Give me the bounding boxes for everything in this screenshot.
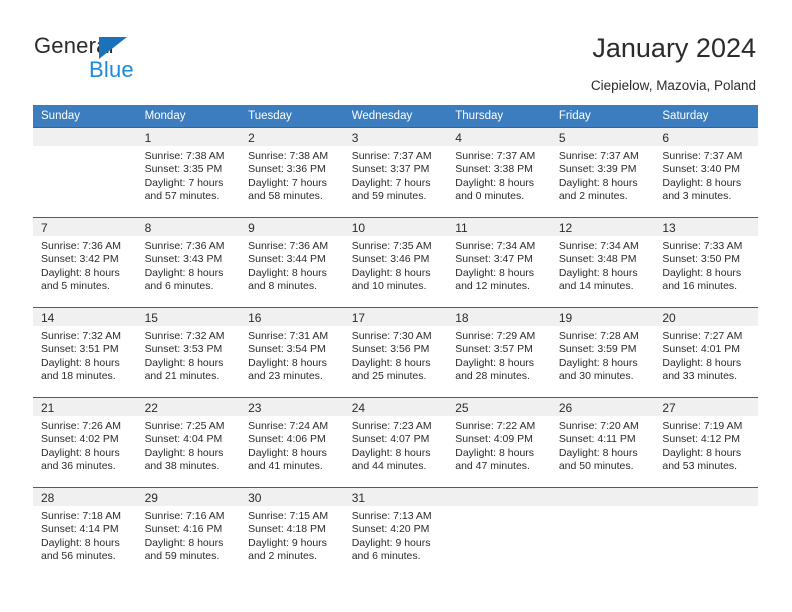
- calendar-day-cell[interactable]: 5Sunrise: 7:37 AMSunset: 3:39 PMDaylight…: [551, 128, 655, 218]
- day-daylight-line1: Daylight: 8 hours: [455, 177, 545, 190]
- day-sun-info: Sunrise: 7:30 AMSunset: 3:56 PMDaylight:…: [344, 326, 448, 384]
- calendar-day-cell-empty: [33, 128, 137, 218]
- day-sunrise: Sunrise: 7:18 AM: [41, 510, 131, 523]
- day-number: 4: [447, 128, 551, 146]
- day-sunrise: Sunrise: 7:19 AM: [662, 420, 752, 433]
- day-daylight-line2: and 23 minutes.: [248, 370, 338, 383]
- day-daylight-line2: and 18 minutes.: [41, 370, 131, 383]
- day-sun-info: Sunrise: 7:34 AMSunset: 3:47 PMDaylight:…: [447, 236, 551, 294]
- day-daylight-line1: Daylight: 8 hours: [455, 447, 545, 460]
- day-daylight-line1: Daylight: 8 hours: [455, 267, 545, 280]
- day-sun-info: Sunrise: 7:36 AMSunset: 3:42 PMDaylight:…: [33, 236, 137, 294]
- day-number: 29: [137, 488, 241, 506]
- day-sun-info: Sunrise: 7:31 AMSunset: 3:54 PMDaylight:…: [240, 326, 344, 384]
- day-number: 8: [137, 218, 241, 236]
- day-number: 7: [33, 218, 137, 236]
- day-daylight-line2: and 0 minutes.: [455, 190, 545, 203]
- day-sun-info: Sunrise: 7:35 AMSunset: 3:46 PMDaylight:…: [344, 236, 448, 294]
- day-number: 18: [447, 308, 551, 326]
- day-daylight-line1: Daylight: 8 hours: [248, 357, 338, 370]
- day-daylight-line2: and 21 minutes.: [145, 370, 235, 383]
- day-sunset: Sunset: 3:44 PM: [248, 253, 338, 266]
- calendar-grid: SundayMondayTuesdayWednesdayThursdayFrid…: [33, 105, 758, 577]
- weekday-header-thursday: Thursday: [447, 105, 551, 128]
- weekday-header-sunday: Sunday: [33, 105, 137, 128]
- day-sunrise: Sunrise: 7:37 AM: [559, 150, 649, 163]
- day-sun-info: Sunrise: 7:33 AMSunset: 3:50 PMDaylight:…: [654, 236, 758, 294]
- day-sunrise: Sunrise: 7:25 AM: [145, 420, 235, 433]
- day-sunset: Sunset: 3:48 PM: [559, 253, 649, 266]
- day-number: [33, 128, 137, 146]
- day-sunset: Sunset: 4:01 PM: [662, 343, 752, 356]
- day-sun-info: Sunrise: 7:19 AMSunset: 4:12 PMDaylight:…: [654, 416, 758, 474]
- logo-triangle-icon: [99, 37, 127, 59]
- day-daylight-line1: Daylight: 8 hours: [559, 447, 649, 460]
- day-sun-info: Sunrise: 7:37 AMSunset: 3:38 PMDaylight:…: [447, 146, 551, 204]
- day-sunset: Sunset: 4:12 PM: [662, 433, 752, 446]
- calendar-day-cell[interactable]: 9Sunrise: 7:36 AMSunset: 3:44 PMDaylight…: [240, 218, 344, 308]
- day-sun-info: Sunrise: 7:28 AMSunset: 3:59 PMDaylight:…: [551, 326, 655, 384]
- day-daylight-line2: and 58 minutes.: [248, 190, 338, 203]
- day-number: 16: [240, 308, 344, 326]
- day-sun-info: Sunrise: 7:22 AMSunset: 4:09 PMDaylight:…: [447, 416, 551, 474]
- day-sunset: Sunset: 3:46 PM: [352, 253, 442, 266]
- calendar-week-row: 28Sunrise: 7:18 AMSunset: 4:14 PMDayligh…: [33, 488, 758, 578]
- day-sunset: Sunset: 3:36 PM: [248, 163, 338, 176]
- day-daylight-line2: and 12 minutes.: [455, 280, 545, 293]
- day-daylight-line2: and 57 minutes.: [145, 190, 235, 203]
- day-sunrise: Sunrise: 7:36 AM: [41, 240, 131, 253]
- day-sun-info: Sunrise: 7:34 AMSunset: 3:48 PMDaylight:…: [551, 236, 655, 294]
- day-sunrise: Sunrise: 7:20 AM: [559, 420, 649, 433]
- day-sun-info: Sunrise: 7:36 AMSunset: 3:43 PMDaylight:…: [137, 236, 241, 294]
- day-sunset: Sunset: 3:35 PM: [145, 163, 235, 176]
- day-daylight-line2: and 28 minutes.: [455, 370, 545, 383]
- day-sunset: Sunset: 3:37 PM: [352, 163, 442, 176]
- day-daylight-line1: Daylight: 8 hours: [248, 267, 338, 280]
- calendar-table: SundayMondayTuesdayWednesdayThursdayFrid…: [33, 105, 758, 577]
- day-sunrise: Sunrise: 7:38 AM: [248, 150, 338, 163]
- day-sun-info: Sunrise: 7:15 AMSunset: 4:18 PMDaylight:…: [240, 506, 344, 564]
- day-sun-info: Sunrise: 7:23 AMSunset: 4:07 PMDaylight:…: [344, 416, 448, 474]
- day-sunrise: Sunrise: 7:34 AM: [455, 240, 545, 253]
- day-number: 5: [551, 128, 655, 146]
- day-number: 11: [447, 218, 551, 236]
- day-sun-info: Sunrise: 7:24 AMSunset: 4:06 PMDaylight:…: [240, 416, 344, 474]
- day-sunrise: Sunrise: 7:37 AM: [662, 150, 752, 163]
- day-number: 3: [344, 128, 448, 146]
- day-daylight-line1: Daylight: 7 hours: [352, 177, 442, 190]
- day-daylight-line1: Daylight: 7 hours: [248, 177, 338, 190]
- day-daylight-line1: Daylight: 8 hours: [352, 447, 442, 460]
- calendar-day-cell[interactable]: 8Sunrise: 7:36 AMSunset: 3:43 PMDaylight…: [137, 218, 241, 308]
- day-number: 26: [551, 398, 655, 416]
- day-sunset: Sunset: 3:57 PM: [455, 343, 545, 356]
- day-sunset: Sunset: 3:39 PM: [559, 163, 649, 176]
- calendar-day-cell[interactable]: 3Sunrise: 7:37 AMSunset: 3:37 PMDaylight…: [344, 128, 448, 218]
- general-blue-logo: General Blue: [34, 34, 214, 90]
- day-daylight-line1: Daylight: 8 hours: [559, 267, 649, 280]
- day-daylight-line2: and 33 minutes.: [662, 370, 752, 383]
- day-daylight-line2: and 44 minutes.: [352, 460, 442, 473]
- day-daylight-line2: and 38 minutes.: [145, 460, 235, 473]
- calendar-day-cell[interactable]: 23Sunrise: 7:24 AMSunset: 4:06 PMDayligh…: [240, 398, 344, 488]
- day-sunrise: Sunrise: 7:35 AM: [352, 240, 442, 253]
- day-daylight-line2: and 30 minutes.: [559, 370, 649, 383]
- day-daylight-line1: Daylight: 8 hours: [559, 177, 649, 190]
- day-sunset: Sunset: 3:53 PM: [145, 343, 235, 356]
- day-daylight-line2: and 53 minutes.: [662, 460, 752, 473]
- day-number: 14: [33, 308, 137, 326]
- calendar-day-cell[interactable]: 14Sunrise: 7:32 AMSunset: 3:51 PMDayligh…: [33, 308, 137, 398]
- day-sunrise: Sunrise: 7:13 AM: [352, 510, 442, 523]
- day-sunset: Sunset: 3:56 PM: [352, 343, 442, 356]
- calendar-day-cell[interactable]: 15Sunrise: 7:32 AMSunset: 3:53 PMDayligh…: [137, 308, 241, 398]
- weekday-header-wednesday: Wednesday: [344, 105, 448, 128]
- day-number: 17: [344, 308, 448, 326]
- page-title: January 2024: [592, 32, 756, 64]
- day-daylight-line2: and 8 minutes.: [248, 280, 338, 293]
- day-sunrise: Sunrise: 7:26 AM: [41, 420, 131, 433]
- day-sunrise: Sunrise: 7:33 AM: [662, 240, 752, 253]
- day-sunset: Sunset: 4:04 PM: [145, 433, 235, 446]
- day-number: 20: [654, 308, 758, 326]
- day-daylight-line1: Daylight: 8 hours: [41, 447, 131, 460]
- calendar-week-row: 1Sunrise: 7:38 AMSunset: 3:35 PMDaylight…: [33, 128, 758, 218]
- day-daylight-line1: Daylight: 8 hours: [662, 447, 752, 460]
- calendar-day-cell[interactable]: 7Sunrise: 7:36 AMSunset: 3:42 PMDaylight…: [33, 218, 137, 308]
- day-daylight-line2: and 25 minutes.: [352, 370, 442, 383]
- day-daylight-line2: and 2 minutes.: [559, 190, 649, 203]
- calendar-day-cell[interactable]: 31Sunrise: 7:13 AMSunset: 4:20 PMDayligh…: [344, 488, 448, 578]
- day-number: 24: [344, 398, 448, 416]
- day-sunset: Sunset: 3:54 PM: [248, 343, 338, 356]
- day-number: 31: [344, 488, 448, 506]
- day-daylight-line1: Daylight: 8 hours: [145, 357, 235, 370]
- day-daylight-line1: Daylight: 8 hours: [41, 537, 131, 550]
- day-daylight-line2: and 59 minutes.: [352, 190, 442, 203]
- day-sunset: Sunset: 3:59 PM: [559, 343, 649, 356]
- day-sun-info: Sunrise: 7:36 AMSunset: 3:44 PMDaylight:…: [240, 236, 344, 294]
- day-daylight-line2: and 2 minutes.: [248, 550, 338, 563]
- day-sunset: Sunset: 4:07 PM: [352, 433, 442, 446]
- day-number: 30: [240, 488, 344, 506]
- calendar-day-cell[interactable]: 21Sunrise: 7:26 AMSunset: 4:02 PMDayligh…: [33, 398, 137, 488]
- day-sunset: Sunset: 4:20 PM: [352, 523, 442, 536]
- day-daylight-line1: Daylight: 8 hours: [41, 357, 131, 370]
- day-sunrise: Sunrise: 7:24 AM: [248, 420, 338, 433]
- calendar-day-cell[interactable]: 6Sunrise: 7:37 AMSunset: 3:40 PMDaylight…: [654, 128, 758, 218]
- calendar-day-cell[interactable]: 4Sunrise: 7:37 AMSunset: 3:38 PMDaylight…: [447, 128, 551, 218]
- day-sunrise: Sunrise: 7:22 AM: [455, 420, 545, 433]
- day-number: 12: [551, 218, 655, 236]
- calendar-day-cell[interactable]: 26Sunrise: 7:20 AMSunset: 4:11 PMDayligh…: [551, 398, 655, 488]
- calendar-day-cell[interactable]: 13Sunrise: 7:33 AMSunset: 3:50 PMDayligh…: [654, 218, 758, 308]
- day-sunset: Sunset: 3:50 PM: [662, 253, 752, 266]
- day-number: 27: [654, 398, 758, 416]
- day-sunrise: Sunrise: 7:36 AM: [248, 240, 338, 253]
- day-number: 15: [137, 308, 241, 326]
- calendar-day-cell[interactable]: 22Sunrise: 7:25 AMSunset: 4:04 PMDayligh…: [137, 398, 241, 488]
- day-sunrise: Sunrise: 7:34 AM: [559, 240, 649, 253]
- day-sunset: Sunset: 3:51 PM: [41, 343, 131, 356]
- day-sunrise: Sunrise: 7:29 AM: [455, 330, 545, 343]
- day-daylight-line2: and 10 minutes.: [352, 280, 442, 293]
- day-daylight-line1: Daylight: 7 hours: [145, 177, 235, 190]
- day-daylight-line2: and 14 minutes.: [559, 280, 649, 293]
- calendar-day-cell[interactable]: 10Sunrise: 7:35 AMSunset: 3:46 PMDayligh…: [344, 218, 448, 308]
- weekday-header-friday: Friday: [551, 105, 655, 128]
- day-daylight-line2: and 47 minutes.: [455, 460, 545, 473]
- day-sunset: Sunset: 4:14 PM: [41, 523, 131, 536]
- day-sunset: Sunset: 4:18 PM: [248, 523, 338, 536]
- calendar-day-cell[interactable]: 19Sunrise: 7:28 AMSunset: 3:59 PMDayligh…: [551, 308, 655, 398]
- day-number: 21: [33, 398, 137, 416]
- day-sunrise: Sunrise: 7:16 AM: [145, 510, 235, 523]
- day-daylight-line2: and 6 minutes.: [352, 550, 442, 563]
- day-number: 22: [137, 398, 241, 416]
- calendar-day-cell[interactable]: 16Sunrise: 7:31 AMSunset: 3:54 PMDayligh…: [240, 308, 344, 398]
- day-daylight-line1: Daylight: 8 hours: [662, 267, 752, 280]
- day-number: 6: [654, 128, 758, 146]
- weekday-header-monday: Monday: [137, 105, 241, 128]
- day-daylight-line2: and 36 minutes.: [41, 460, 131, 473]
- calendar-week-row: 7Sunrise: 7:36 AMSunset: 3:42 PMDaylight…: [33, 218, 758, 308]
- calendar-day-cell[interactable]: 28Sunrise: 7:18 AMSunset: 4:14 PMDayligh…: [33, 488, 137, 578]
- logo-text-blue: Blue: [89, 58, 134, 82]
- weekday-header-tuesday: Tuesday: [240, 105, 344, 128]
- calendar-day-cell[interactable]: 11Sunrise: 7:34 AMSunset: 3:47 PMDayligh…: [447, 218, 551, 308]
- day-sunrise: Sunrise: 7:27 AM: [662, 330, 752, 343]
- calendar-day-cell-empty: [447, 488, 551, 578]
- day-sunrise: Sunrise: 7:38 AM: [145, 150, 235, 163]
- day-daylight-line1: Daylight: 8 hours: [662, 177, 752, 190]
- day-sun-info: Sunrise: 7:16 AMSunset: 4:16 PMDaylight:…: [137, 506, 241, 564]
- day-number: 13: [654, 218, 758, 236]
- day-sunset: Sunset: 3:47 PM: [455, 253, 545, 266]
- day-number: 28: [33, 488, 137, 506]
- day-sunrise: Sunrise: 7:37 AM: [455, 150, 545, 163]
- calendar-day-cell[interactable]: 24Sunrise: 7:23 AMSunset: 4:07 PMDayligh…: [344, 398, 448, 488]
- day-daylight-line2: and 59 minutes.: [145, 550, 235, 563]
- day-sun-info: Sunrise: 7:18 AMSunset: 4:14 PMDaylight:…: [33, 506, 137, 564]
- calendar-day-cell-empty: [551, 488, 655, 578]
- day-number: 23: [240, 398, 344, 416]
- calendar-body: 1Sunrise: 7:38 AMSunset: 3:35 PMDaylight…: [33, 128, 758, 578]
- day-sunrise: Sunrise: 7:37 AM: [352, 150, 442, 163]
- day-sunset: Sunset: 3:43 PM: [145, 253, 235, 266]
- day-sunset: Sunset: 3:38 PM: [455, 163, 545, 176]
- day-daylight-line2: and 3 minutes.: [662, 190, 752, 203]
- day-sunset: Sunset: 4:16 PM: [145, 523, 235, 536]
- day-daylight-line1: Daylight: 8 hours: [352, 357, 442, 370]
- calendar-week-row: 14Sunrise: 7:32 AMSunset: 3:51 PMDayligh…: [33, 308, 758, 398]
- calendar-day-cell[interactable]: 29Sunrise: 7:16 AMSunset: 4:16 PMDayligh…: [137, 488, 241, 578]
- day-sunrise: Sunrise: 7:28 AM: [559, 330, 649, 343]
- day-daylight-line2: and 6 minutes.: [145, 280, 235, 293]
- day-daylight-line1: Daylight: 9 hours: [352, 537, 442, 550]
- calendar-week-row: 21Sunrise: 7:26 AMSunset: 4:02 PMDayligh…: [33, 398, 758, 488]
- calendar-header-row: SundayMondayTuesdayWednesdayThursdayFrid…: [33, 105, 758, 128]
- day-sun-info: Sunrise: 7:32 AMSunset: 3:51 PMDaylight:…: [33, 326, 137, 384]
- day-daylight-line1: Daylight: 8 hours: [455, 357, 545, 370]
- day-number: 25: [447, 398, 551, 416]
- calendar-day-cell[interactable]: 1Sunrise: 7:38 AMSunset: 3:35 PMDaylight…: [137, 128, 241, 218]
- calendar-day-cell[interactable]: 27Sunrise: 7:19 AMSunset: 4:12 PMDayligh…: [654, 398, 758, 488]
- day-sun-info: Sunrise: 7:27 AMSunset: 4:01 PMDaylight:…: [654, 326, 758, 384]
- day-daylight-line1: Daylight: 8 hours: [352, 267, 442, 280]
- day-number: 10: [344, 218, 448, 236]
- day-daylight-line1: Daylight: 8 hours: [145, 447, 235, 460]
- calendar-day-cell-empty: [654, 488, 758, 578]
- day-sun-info: Sunrise: 7:25 AMSunset: 4:04 PMDaylight:…: [137, 416, 241, 474]
- day-sun-info: Sunrise: 7:37 AMSunset: 3:39 PMDaylight:…: [551, 146, 655, 204]
- day-sunset: Sunset: 3:40 PM: [662, 163, 752, 176]
- day-sun-info: Sunrise: 7:37 AMSunset: 3:37 PMDaylight:…: [344, 146, 448, 204]
- calendar-day-cell[interactable]: 20Sunrise: 7:27 AMSunset: 4:01 PMDayligh…: [654, 308, 758, 398]
- calendar-day-cell[interactable]: 2Sunrise: 7:38 AMSunset: 3:36 PMDaylight…: [240, 128, 344, 218]
- day-daylight-line2: and 16 minutes.: [662, 280, 752, 293]
- day-number: 19: [551, 308, 655, 326]
- day-daylight-line2: and 5 minutes.: [41, 280, 131, 293]
- day-sun-info: Sunrise: 7:32 AMSunset: 3:53 PMDaylight:…: [137, 326, 241, 384]
- day-sun-info: Sunrise: 7:13 AMSunset: 4:20 PMDaylight:…: [344, 506, 448, 564]
- calendar-day-cell[interactable]: 25Sunrise: 7:22 AMSunset: 4:09 PMDayligh…: [447, 398, 551, 488]
- day-sunset: Sunset: 4:02 PM: [41, 433, 131, 446]
- day-sunrise: Sunrise: 7:36 AM: [145, 240, 235, 253]
- day-sunset: Sunset: 4:06 PM: [248, 433, 338, 446]
- day-daylight-line1: Daylight: 8 hours: [145, 267, 235, 280]
- calendar-page: General Blue January 2024 Ciepielow, Maz…: [0, 0, 792, 612]
- day-number: 9: [240, 218, 344, 236]
- page-subtitle-location: Ciepielow, Mazovia, Poland: [591, 78, 756, 94]
- day-number: [447, 488, 551, 506]
- page-header: General Blue January 2024 Ciepielow, Maz…: [0, 0, 792, 96]
- day-sunset: Sunset: 4:11 PM: [559, 433, 649, 446]
- day-sun-info: Sunrise: 7:38 AMSunset: 3:36 PMDaylight:…: [240, 146, 344, 204]
- day-sun-info: Sunrise: 7:37 AMSunset: 3:40 PMDaylight:…: [654, 146, 758, 204]
- day-sunset: Sunset: 4:09 PM: [455, 433, 545, 446]
- day-sunrise: Sunrise: 7:15 AM: [248, 510, 338, 523]
- calendar-day-cell[interactable]: 12Sunrise: 7:34 AMSunset: 3:48 PMDayligh…: [551, 218, 655, 308]
- day-daylight-line2: and 56 minutes.: [41, 550, 131, 563]
- calendar-day-cell[interactable]: 18Sunrise: 7:29 AMSunset: 3:57 PMDayligh…: [447, 308, 551, 398]
- day-sunrise: Sunrise: 7:30 AM: [352, 330, 442, 343]
- day-daylight-line1: Daylight: 9 hours: [248, 537, 338, 550]
- day-sunset: Sunset: 3:42 PM: [41, 253, 131, 266]
- day-sun-info: Sunrise: 7:38 AMSunset: 3:35 PMDaylight:…: [137, 146, 241, 204]
- day-number: 1: [137, 128, 241, 146]
- day-daylight-line1: Daylight: 8 hours: [145, 537, 235, 550]
- day-sunrise: Sunrise: 7:32 AM: [41, 330, 131, 343]
- weekday-header-saturday: Saturday: [654, 105, 758, 128]
- day-sunrise: Sunrise: 7:31 AM: [248, 330, 338, 343]
- day-sun-info: Sunrise: 7:20 AMSunset: 4:11 PMDaylight:…: [551, 416, 655, 474]
- day-daylight-line2: and 50 minutes.: [559, 460, 649, 473]
- day-daylight-line2: and 41 minutes.: [248, 460, 338, 473]
- day-daylight-line1: Daylight: 8 hours: [248, 447, 338, 460]
- day-number: [551, 488, 655, 506]
- day-daylight-line1: Daylight: 8 hours: [662, 357, 752, 370]
- day-number: [654, 488, 758, 506]
- calendar-day-cell[interactable]: 30Sunrise: 7:15 AMSunset: 4:18 PMDayligh…: [240, 488, 344, 578]
- day-sun-info: Sunrise: 7:29 AMSunset: 3:57 PMDaylight:…: [447, 326, 551, 384]
- day-sunrise: Sunrise: 7:23 AM: [352, 420, 442, 433]
- day-number: 2: [240, 128, 344, 146]
- day-sun-info: Sunrise: 7:26 AMSunset: 4:02 PMDaylight:…: [33, 416, 137, 474]
- day-daylight-line1: Daylight: 8 hours: [559, 357, 649, 370]
- calendar-day-cell[interactable]: 17Sunrise: 7:30 AMSunset: 3:56 PMDayligh…: [344, 308, 448, 398]
- day-daylight-line1: Daylight: 8 hours: [41, 267, 131, 280]
- day-sunrise: Sunrise: 7:32 AM: [145, 330, 235, 343]
